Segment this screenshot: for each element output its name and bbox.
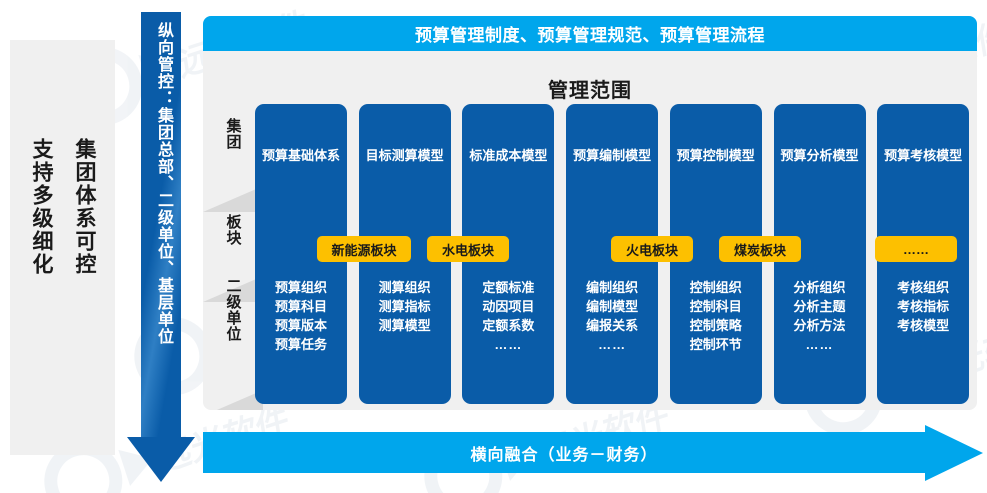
model-card-item: 动因项目 — [466, 297, 550, 316]
model-card-title: 目标测算模型 — [363, 146, 447, 166]
step-shape-3 — [203, 390, 263, 410]
segment-badge[interactable]: 新能源板块 — [317, 236, 411, 262]
model-card-item: 定额标准 — [466, 278, 550, 297]
model-card-item: 测算模型 — [363, 316, 447, 335]
segment-badge[interactable]: 煤炭板块 — [719, 236, 801, 262]
scope-title: 管理范围 — [203, 74, 977, 103]
model-card-item: 分析方法 — [778, 316, 862, 335]
row-label-column: 集团 板块 二级单位 — [203, 108, 263, 408]
segment-badge[interactable]: 水电板块 — [427, 236, 509, 262]
model-card-item: 测算指标 — [363, 297, 447, 316]
model-card-item: 编报关系 — [570, 316, 654, 335]
model-card-item: 控制组织 — [674, 278, 758, 297]
model-card-item: 预算任务 — [259, 335, 343, 354]
model-card-item: 控制科目 — [674, 297, 758, 316]
model-card-title: 标准成本模型 — [466, 146, 550, 166]
model-card-item: 定额系数 — [466, 316, 550, 335]
row-label-group-text: 集团 — [223, 118, 244, 150]
model-card-item: 控制环节 — [674, 335, 758, 354]
model-card-item: 预算版本 — [259, 316, 343, 335]
vertical-arrow-head-icon — [127, 437, 195, 482]
model-card-item-list: 定额标准动因项目定额系数…… — [466, 278, 550, 354]
management-scope-panel: 预算管理制度、预算管理规范、预算管理流程 管理范围 集团 板块 二级单位 预算基… — [203, 16, 977, 410]
vertical-governance-arrow: 纵向管控：集团总部、二级单位、基层单位 — [127, 12, 195, 482]
left-summary-panel: 集团体系可控 支持多级细化 — [10, 40, 115, 455]
horizontal-integration-arrow: 横向融合（业务－财务） — [203, 425, 987, 480]
left-panel-line-1-wrap: 集团体系可控 — [69, 138, 99, 276]
model-card-item: 控制策略 — [674, 316, 758, 335]
horizontal-arrow-label: 横向融合（业务－财务） — [203, 432, 925, 473]
model-card-item: 考核指标 — [881, 297, 965, 316]
model-card-item: …… — [570, 335, 654, 354]
horizontal-arrow-head-icon — [925, 425, 983, 481]
segment-badge[interactable]: …… — [875, 236, 957, 262]
row-label-secondary-unit-text: 二级单位 — [223, 278, 244, 342]
model-card-title: 预算基础体系 — [259, 146, 343, 166]
segment-badge[interactable]: 火电板块 — [611, 236, 693, 262]
model-card-item: 编制组织 — [570, 278, 654, 297]
model-card-item-list: 测算组织测算指标测算模型 — [363, 278, 447, 335]
model-card-item: …… — [466, 335, 550, 354]
left-panel-line-1: 集团体系可控 — [69, 138, 99, 276]
panel-header-bar: 预算管理制度、预算管理规范、预算管理流程 — [203, 16, 977, 51]
model-card-title: 预算考核模型 — [881, 146, 965, 166]
model-card-item-list: 编制组织编制模型编报关系…… — [570, 278, 654, 354]
model-card-item-list: 预算组织预算科目预算版本预算任务 — [259, 278, 343, 354]
model-card-item: 分析主题 — [778, 297, 862, 316]
model-card-item: 预算组织 — [259, 278, 343, 297]
model-card-title: 预算分析模型 — [778, 146, 862, 166]
model-card-item: 编制模型 — [570, 297, 654, 316]
model-card-item-list: 控制组织控制科目控制策略控制环节 — [674, 278, 758, 354]
model-card-grid: 预算基础体系预算组织预算科目预算版本预算任务目标测算模型测算组织测算指标测算模型… — [255, 104, 969, 404]
model-card-item: 预算科目 — [259, 297, 343, 316]
model-card-item: 考核组织 — [881, 278, 965, 297]
model-card-item: 测算组织 — [363, 278, 447, 297]
model-card-item: 分析组织 — [778, 278, 862, 297]
left-panel-line-2-wrap: 支持多级细化 — [26, 138, 56, 276]
model-card-item: …… — [778, 335, 862, 354]
panel-header-title: 预算管理制度、预算管理规范、预算管理流程 — [415, 21, 765, 46]
row-label-secondary-unit: 二级单位 — [211, 278, 255, 342]
row-label-group: 集团 — [211, 118, 255, 150]
model-card-title: 预算编制模型 — [570, 146, 654, 166]
row-label-segment-text: 板块 — [223, 214, 244, 246]
vertical-arrow-label: 纵向管控：集团总部、二级单位、基层单位 — [143, 22, 183, 345]
model-card-title: 预算控制模型 — [674, 146, 758, 166]
model-card-item-list: 考核组织考核指标考核模型 — [881, 278, 965, 335]
model-card-item-list: 分析组织分析主题分析方法…… — [778, 278, 862, 354]
step-shape-1 — [203, 186, 263, 212]
row-label-segment: 板块 — [211, 214, 255, 246]
model-card-item: 考核模型 — [881, 316, 965, 335]
left-panel-line-2: 支持多级细化 — [26, 138, 56, 276]
